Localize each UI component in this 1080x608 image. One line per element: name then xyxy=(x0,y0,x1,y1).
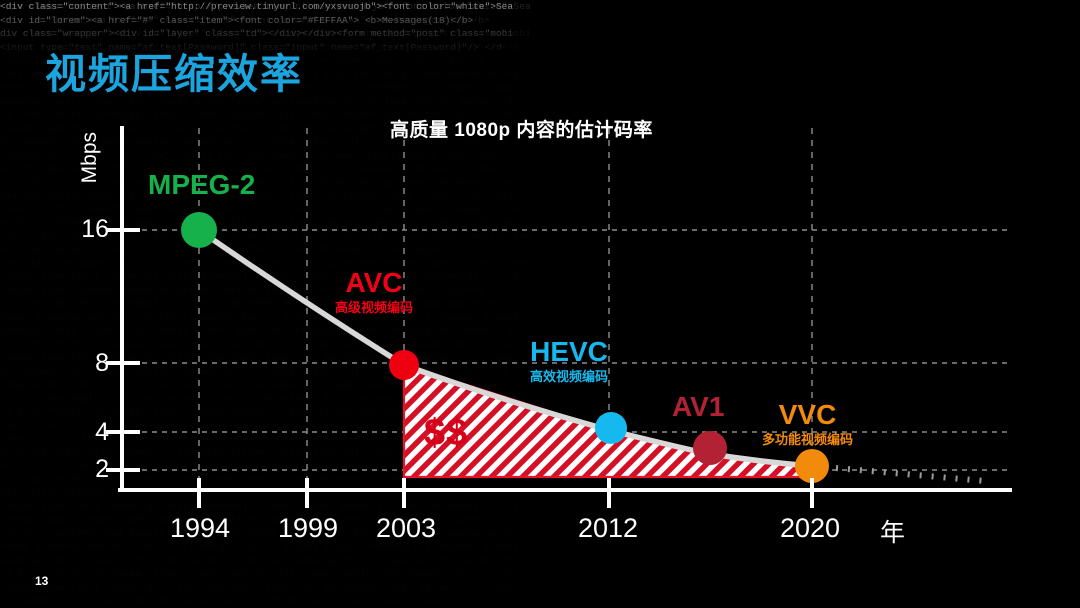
data-point-av1 xyxy=(693,431,727,465)
x-tick-label-2012: 2012 xyxy=(578,513,638,544)
data-point-vvc xyxy=(795,449,829,483)
chart-title: 高质量 1080p 内容的估计码率 xyxy=(390,115,653,142)
codec-name-hevc: HEVC xyxy=(530,337,608,366)
codec-label-vvc: VVC 多功能视频编码 xyxy=(762,400,853,449)
x-axis-unit-label: 年 xyxy=(880,513,905,549)
projection-line xyxy=(824,467,985,481)
codec-subtitle-avc: 高级视频编码 xyxy=(335,300,413,317)
codec-name-av1: AV1 xyxy=(672,392,724,421)
page-title: 视频压缩效率 xyxy=(45,40,303,100)
data-point-hevc xyxy=(595,412,627,444)
codec-name-mpeg2: MPEG-2 xyxy=(148,170,255,199)
y-tick-label-4: 4 xyxy=(69,418,109,447)
savings-annotation: $$ xyxy=(424,412,468,455)
y-axis-label: Mbps xyxy=(78,132,102,183)
x-tick-label-2003: 2003 xyxy=(376,513,436,544)
x-tick-label-2020: 2020 xyxy=(780,513,840,544)
page-number: 13 xyxy=(35,574,48,588)
data-point-avc xyxy=(389,350,419,380)
x-axis-ticks xyxy=(199,478,812,508)
codec-label-av1: AV1 xyxy=(672,392,724,421)
codec-subtitle-hevc: 高效视频编码 xyxy=(530,369,608,386)
codec-name-avc: AVC xyxy=(335,268,413,297)
codec-label-hevc: HEVC 高效视频编码 xyxy=(530,337,608,386)
codec-label-mpeg2: MPEG-2 xyxy=(148,170,255,199)
y-tick-label-16: 16 xyxy=(69,215,109,244)
codec-label-avc: AVC 高级视频编码 xyxy=(335,268,413,317)
data-point-mpeg2 xyxy=(181,212,217,248)
codec-subtitle-vvc: 多功能视频编码 xyxy=(762,432,853,449)
y-tick-label-8: 8 xyxy=(69,349,109,378)
y-tick-label-2: 2 xyxy=(69,455,109,484)
codec-name-vvc: VVC xyxy=(762,400,853,429)
x-tick-label-1999: 1999 xyxy=(278,513,338,544)
x-tick-label-1994: 1994 xyxy=(170,513,230,544)
